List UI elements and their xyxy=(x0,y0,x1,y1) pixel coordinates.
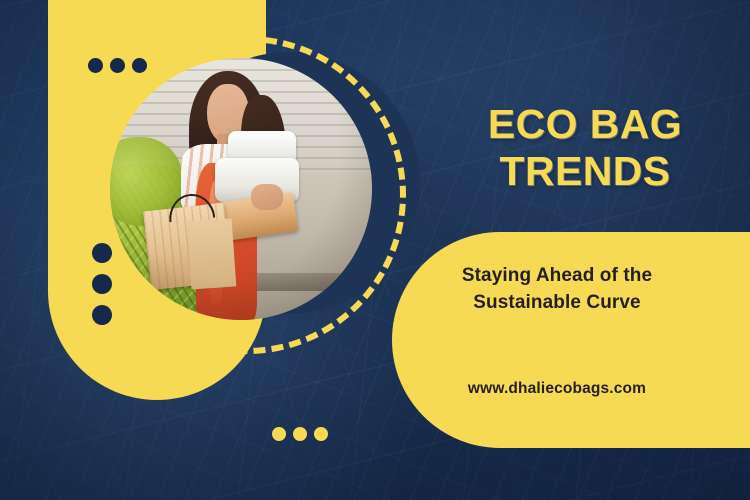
decorative-dot xyxy=(293,427,307,441)
decorative-dot xyxy=(92,243,112,263)
decorative-dot xyxy=(314,427,328,441)
website-url[interactable]: www.dhaliecobags.com xyxy=(392,380,722,398)
photo-shading xyxy=(110,58,372,320)
decorative-dot xyxy=(92,274,112,294)
page-title: ECO BAG TRENDS xyxy=(440,101,730,195)
eco-bag-trends-banner: ECO BAG TRENDS Staying Ahead of the Sust… xyxy=(0,0,750,500)
decorative-dot xyxy=(132,58,147,73)
decorative-dot xyxy=(92,305,112,325)
subtitle-line-2: Sustainable Curve xyxy=(473,292,640,313)
subtitle-line-1: Staying Ahead of the xyxy=(462,265,652,286)
headline-line-1: ECO BAG xyxy=(488,101,682,147)
decorative-dot xyxy=(110,58,125,73)
subtitle: Staying Ahead of the Sustainable Curve xyxy=(392,262,722,316)
headline-line-2: TRENDS xyxy=(440,148,730,195)
decorative-dot xyxy=(272,427,286,441)
decorative-dot xyxy=(88,58,103,73)
hero-photo xyxy=(110,58,372,320)
